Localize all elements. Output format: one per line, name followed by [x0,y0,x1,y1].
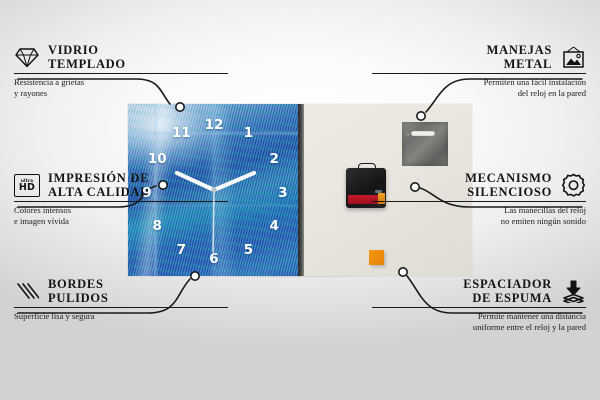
feature-title: BORDES PULIDOS [48,278,108,305]
dial-number-12: 12 [205,117,224,133]
diamond-icon [14,45,40,71]
dial-number-8: 8 [153,218,162,234]
feature-desc-line1: Las manecillas del reloj [372,205,586,216]
feature-header: ESPACIADOR DE ESPUMA [372,278,586,305]
metal-hanger-plate [402,122,448,166]
dial-number-10: 10 [148,151,167,167]
feature-espaciador-de-espuma: ESPACIADOR DE ESPUMA Permite mantener un… [372,278,586,333]
dial-number-5: 5 [244,242,253,258]
foam-spacer [369,250,384,265]
down-arrow-pad-icon [560,279,586,305]
feature-header: MANEJAS METAL [372,44,586,71]
dial-number-2: 2 [269,151,278,167]
gear-icon [560,173,586,199]
dial-number-9: 9 [142,185,151,201]
feature-divider [14,307,228,308]
clock-dial: 12 1 2 3 4 5 6 7 8 9 10 11 [128,104,300,276]
feature-title: VIDRIO TEMPLADO [48,44,126,71]
mechanism-hook [358,163,376,171]
dial-number-11: 11 [172,125,191,141]
dial-number-7: 7 [177,242,186,258]
ultra-hd-icon: ultra HD [14,173,40,199]
feature-title: MECANISMO SILENCIOSO [465,172,552,199]
dial-number-1: 1 [244,125,253,141]
hanger-keyhole-slot [411,131,435,136]
infographic-stage: 12 1 2 3 4 5 6 7 8 9 10 11 [0,0,600,400]
feature-divider [372,201,586,202]
feature-mecanismo-silencioso: MECANISMO SILENCIOSO Las manecillas del … [372,172,586,227]
feature-vidrio-templado: VIDRIO TEMPLADO Resistencia a grietas y … [14,44,228,99]
feature-title: ESPACIADOR DE ESPUMA [463,278,552,305]
dial-number-3: 3 [278,185,287,201]
feature-header: VIDRIO TEMPLADO [14,44,228,71]
beveled-edge-icon [14,279,40,305]
feature-desc-line1: Resistencia a grietas [14,77,228,88]
feature-header: BORDES PULIDOS [14,278,228,305]
feature-desc-line2: no emiten ningún sonido [372,216,586,227]
feature-bordes-pulidos: BORDES PULIDOS Superficie lisa y segura [14,278,228,322]
feature-desc-line2: uniforme entre el reloj y la pared [372,322,586,333]
feature-title: MANEJAS METAL [487,44,552,71]
hd-badge-hd-text: HD [19,183,35,193]
feature-divider [14,73,228,74]
dial-number-6: 6 [209,251,218,267]
feature-desc-line2: del reloj en la pared [372,88,586,99]
feature-divider [372,73,586,74]
feature-desc-line1: Superficie lisa y segura [14,311,228,322]
dial-number-4: 4 [269,218,278,234]
feature-header: MECANISMO SILENCIOSO [372,172,586,199]
feature-desc-line1: Permite mantener una distancia [372,311,586,322]
feature-desc-line1: Permiten una fácil instalación [372,77,586,88]
hd-badge: ultra HD [14,174,40,197]
feature-desc-line2: y rayones [14,88,228,99]
feature-manejas-metal: MANEJAS METAL Permiten una fácil instala… [372,44,586,99]
feature-divider [372,307,586,308]
framed-picture-icon [560,45,586,71]
